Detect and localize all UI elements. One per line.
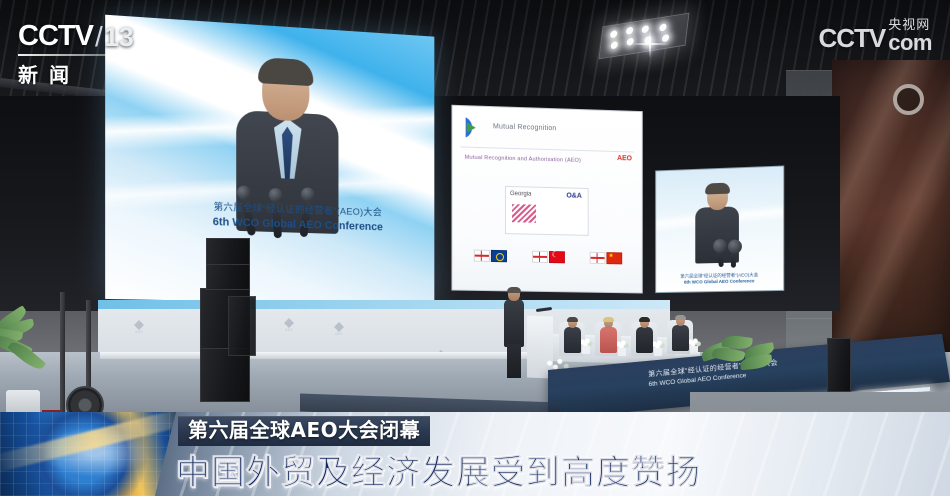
lower-third-banner: 第六届全球AEO大会闭幕 中国外贸及经济发展受到高度赞扬 <box>0 412 950 496</box>
kicker-box: 第六届全球AEO大会闭幕 <box>178 416 430 446</box>
secondary-led-screen: 第六届全球“经认证的经营者”(AEO)大会 6th WCO Global AEO… <box>655 165 784 293</box>
cctv-site-tld: com <box>888 32 932 54</box>
loudspeaker-stack <box>200 348 250 402</box>
slide-heading: Mutual Recognition <box>493 123 557 132</box>
cctv-wordmark: CCTV <box>18 20 93 53</box>
bug-underline <box>18 54 136 56</box>
wall-clock-icon <box>893 84 924 115</box>
ceiling-light-flare <box>648 42 651 45</box>
screen-slide-caption: 第六届全球“经认证的经营者”(AEO)大会 6th WCO Global AEO… <box>192 201 403 235</box>
channel-name-cn: 新闻 <box>18 59 158 88</box>
kicker-text: 第六届全球AEO大会闭幕 <box>188 418 420 442</box>
cctv-slash: / <box>95 21 103 53</box>
flag-pair-georgia-turkiye <box>532 251 565 264</box>
line-array-speaker <box>206 238 250 266</box>
truss-pole <box>60 292 65 412</box>
stage-speaker-person <box>504 288 524 378</box>
cctv-com-bug: CCTV 央视网 com <box>818 18 932 54</box>
slide-divider <box>461 146 634 152</box>
panelist-2 <box>597 318 619 358</box>
wood-panel-wall <box>832 60 950 360</box>
presentation-slide-screen: Mutual Recognition Mutual Recognition an… <box>451 105 642 294</box>
line-array-speaker <box>206 264 250 290</box>
certificate-thumbnail: Georgia O&A <box>505 186 589 236</box>
stage-monitor-speaker <box>228 296 256 356</box>
flag-pair-georgia-eu <box>473 250 506 263</box>
cctv13-bug: CCTV / 13 新闻 <box>18 20 158 82</box>
headline-text: 中国外贸及经济发展受到高度赞扬 <box>176 453 701 493</box>
hall-greenery <box>700 338 788 386</box>
wco-logo-icon <box>461 114 487 141</box>
headline-box: 中国外贸及经济发展受到高度赞扬 <box>176 455 701 492</box>
potted-plant <box>0 300 60 420</box>
stage-monitor-speaker <box>827 338 851 392</box>
flag-pair-georgia-china <box>589 252 622 265</box>
slide-title-en: 6th WCO Global AEO Conference <box>668 278 771 285</box>
panelist-3 <box>633 318 655 358</box>
flag-pair-row <box>461 249 634 264</box>
microphone-icon <box>731 248 736 268</box>
globe-graphic-icon <box>0 412 176 496</box>
screen-slide-caption: 第六届全球“经认证的经营者”(AEO)大会 6th WCO Global AEO… <box>668 272 771 285</box>
cert-right-label: O&A <box>566 192 581 199</box>
panelist-4 <box>669 316 691 356</box>
cert-left-label: Georgia <box>510 191 531 198</box>
slide-bullet-text: Mutual Recognition and Authorisation (AE… <box>465 155 581 164</box>
cctv-wordmark: CCTV <box>818 23 885 54</box>
panelist-1 <box>561 318 583 358</box>
broadcast-frame: 第六届全球“经认证的经营者”(AEO)大会 6th WCO Global AEO… <box>0 0 950 496</box>
slide-red-mark: AEO <box>617 155 632 162</box>
channel-number: 13 <box>104 22 134 53</box>
